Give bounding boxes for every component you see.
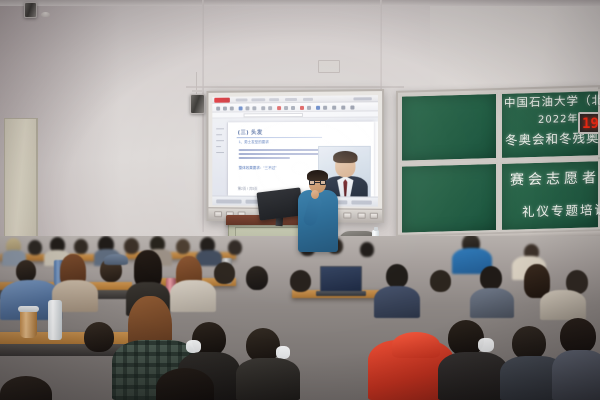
student-torso [540, 290, 586, 320]
student-head [16, 260, 36, 282]
student-torso [374, 286, 420, 318]
student-head [246, 328, 280, 362]
student-head-cap [104, 254, 128, 265]
face-mask [478, 338, 494, 352]
bottle-cap [374, 227, 378, 231]
wall-conduit-horizontal [186, 86, 404, 88]
chalk-text-university: 中国石油大学（北京） [504, 91, 600, 110]
water-bottle [48, 300, 62, 340]
student-head [74, 239, 88, 254]
student-torso [438, 352, 508, 400]
chalkboard-panel [400, 162, 498, 235]
student-head [290, 270, 311, 292]
smartboard-button[interactable] [214, 211, 222, 217]
laptop-screen[interactable] [320, 266, 362, 292]
document-outline-pane[interactable] [212, 122, 228, 195]
green-chalkboard: 中国石油大学（北京） 2022年 冬奥会和冬残奥会 赛会志愿者 礼仪专题培训 [396, 85, 600, 237]
student-head [214, 262, 235, 284]
podium-display[interactable] [256, 187, 303, 220]
speaker-bracket [192, 90, 202, 92]
classroom-door[interactable] [4, 118, 38, 246]
face-mask [276, 346, 290, 359]
student-hood [392, 332, 440, 358]
student-head [246, 266, 268, 290]
laptop-keyboard[interactable] [316, 291, 366, 296]
student-head [480, 266, 502, 290]
wall-speaker-left [190, 94, 205, 114]
ceiling-smoke-detector [41, 12, 50, 17]
student-torso [236, 358, 300, 400]
smartboard-button[interactable] [358, 213, 366, 219]
student-head [386, 264, 408, 288]
smartboard-button[interactable] [343, 212, 351, 218]
smartboard-button[interactable] [370, 213, 378, 219]
document-heading: (三) 头发 [238, 128, 263, 136]
student-head [430, 270, 451, 292]
chalk-text-year: 2022年 [538, 110, 578, 126]
chalk-text-training: 礼仪专题培训 [522, 199, 600, 220]
student-torso [170, 280, 216, 312]
app-logo-icon [214, 98, 230, 103]
student-torso [238, 288, 280, 318]
cup-lid [18, 306, 39, 312]
ceiling-edge [0, 0, 600, 6]
document-quote: 整体效果要求：“三不过” [239, 166, 277, 171]
student-head [124, 238, 139, 254]
document-heading-rule [237, 137, 322, 138]
document-subheading: 1、男士发型的要求 [239, 140, 269, 145]
presenter-eyeglasses [309, 180, 326, 185]
classroom-photo: 中国石油大学（北京） 2022年 冬奥会和冬残奥会 赛会志愿者 礼仪专题培训 1… [0, 0, 600, 400]
led-clock-value: 19 [582, 116, 599, 132]
wall-speaker-rear [24, 2, 37, 18]
face-mask [186, 340, 201, 353]
student-head [28, 240, 42, 255]
document-footer: 第2页 / 共5页 [238, 186, 258, 191]
wall-conduit [202, 0, 204, 232]
student-head [560, 318, 596, 354]
student-audience [0, 236, 600, 400]
coffee-cup [20, 310, 37, 338]
student-head [228, 240, 242, 255]
student-head [176, 239, 190, 254]
student-torso [470, 288, 514, 318]
chalk-text-volunteers: 赛会志愿者 [510, 167, 600, 190]
student-head [360, 242, 374, 257]
student-head [84, 322, 114, 352]
chalkboard-panel [400, 92, 498, 163]
student-head [448, 320, 484, 356]
student-head [512, 326, 546, 360]
presenter-hand [311, 190, 319, 199]
document-page: (三) 头发 1、男士发型的要求 整体效果要求：“三不过” 第2页 / 共5页 [228, 122, 374, 197]
wall-conduit-secondary [380, 0, 382, 92]
app-input-box[interactable] [244, 113, 303, 117]
student-torso [552, 350, 600, 400]
led-clock-display: 19 [578, 112, 600, 134]
student-head-foreground [156, 368, 214, 400]
wall-plate [318, 60, 340, 73]
